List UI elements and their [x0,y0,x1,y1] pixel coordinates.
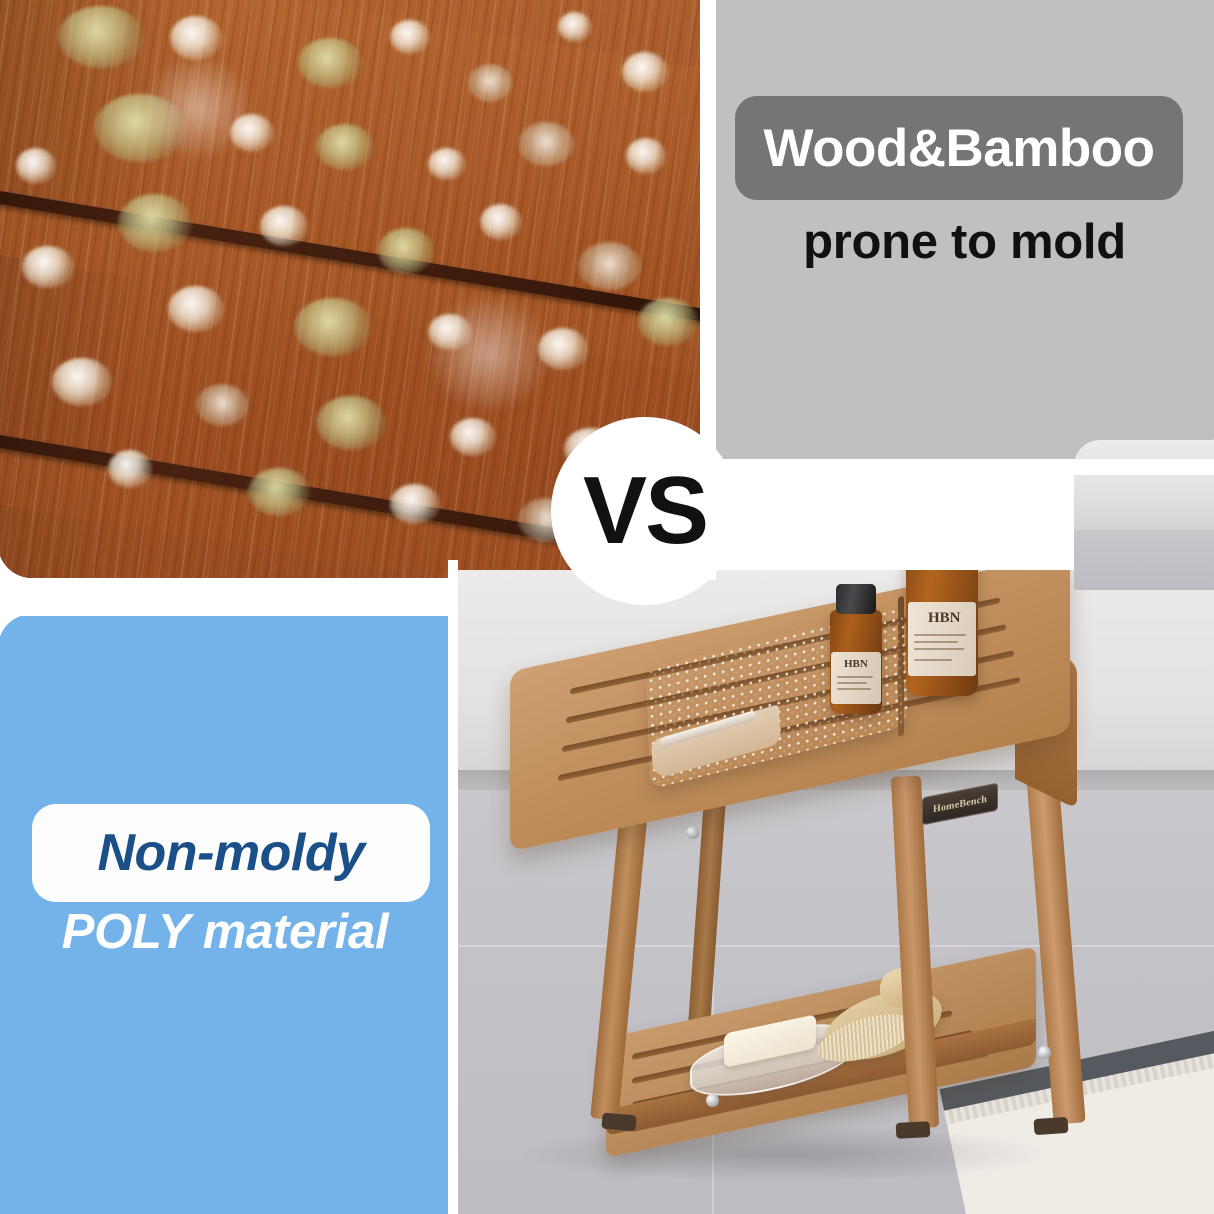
mold-spot [108,450,152,488]
label-text-line [837,688,871,690]
mold-spot [390,20,430,54]
bathroom-wall [1074,440,1214,530]
gray-panel-divider [700,459,1214,475]
mold-spot [316,124,374,170]
panel-divider-horizontal [0,578,452,616]
bench-foot [1033,1117,1068,1135]
label-text-line [914,641,958,643]
mold-spot [378,228,434,274]
mold-spot [480,204,522,240]
wood-bamboo-badge: Wood&Bamboo [735,96,1183,200]
mold-spot [468,64,512,102]
non-moldy-badge: Non-moldy [32,804,430,902]
mold-spot [16,148,56,184]
mold-spot [294,298,372,356]
brand-plate-label: HomeBench [933,793,987,815]
wood-bamboo-badge-label: Wood&Bamboo [764,122,1155,175]
bottle-cap [836,584,876,614]
mold-spot [260,206,308,246]
vs-label: VS [583,463,707,559]
mold-spot [578,242,640,290]
bench-foot [896,1121,931,1139]
mold-spot [298,38,362,88]
mold-spot [390,484,440,524]
comparison-infographic: Wood&Bamboo prone to mold Non-moldy POLY… [0,0,1214,1214]
brand-plate: HomeBench [922,783,998,826]
bench-foot [601,1113,636,1132]
mold-spot [316,396,386,450]
label-text-line [914,648,964,650]
poly-bench-photo: HomeBench HBN HBN [452,570,1214,1214]
non-moldy-badge-label: Non-moldy [97,827,364,879]
label-text-line [837,682,867,684]
prone-to-mold-text: prone to mold [713,216,1214,270]
essential-oil-bottle-small: HBN [830,610,882,714]
mold-spot [450,418,496,456]
label-text-line [914,659,952,661]
mold-bloom [138,58,258,158]
mold-spot [52,358,112,406]
bottle-label: HBN [908,602,976,676]
mold-spot [196,384,248,426]
label-text-line [914,634,966,636]
mold-spot [626,138,666,174]
mold-spot [248,468,310,516]
mold-bloom [418,298,558,408]
essential-oil-bottle-large: HBN [906,570,978,696]
mold-spot [22,246,74,288]
label-text-line [837,676,873,678]
blue-panel-divider [448,560,458,1214]
mold-spot [58,6,144,68]
bathroom-floor [1074,530,1214,590]
poly-shower-bench: HomeBench HBN HBN [510,594,1130,1194]
mold-spot [118,194,192,252]
bottle-label-logo: HBN [928,610,961,627]
assembly-screw [1038,1046,1051,1059]
assembly-screw [706,1094,719,1107]
bottle-label-logo: HBN [844,658,868,670]
mold-spot [622,52,668,92]
mold-spot [428,148,466,180]
mold-spot [170,16,222,60]
mold-spot [558,12,592,42]
mold-spot [168,286,224,332]
poly-material-text: POLY material [20,906,430,960]
vs-badge: VS [551,417,739,605]
mold-spot [638,298,698,346]
bottle-label: HBN [831,652,881,704]
assembly-screw [686,826,699,839]
mold-spot [518,122,574,166]
